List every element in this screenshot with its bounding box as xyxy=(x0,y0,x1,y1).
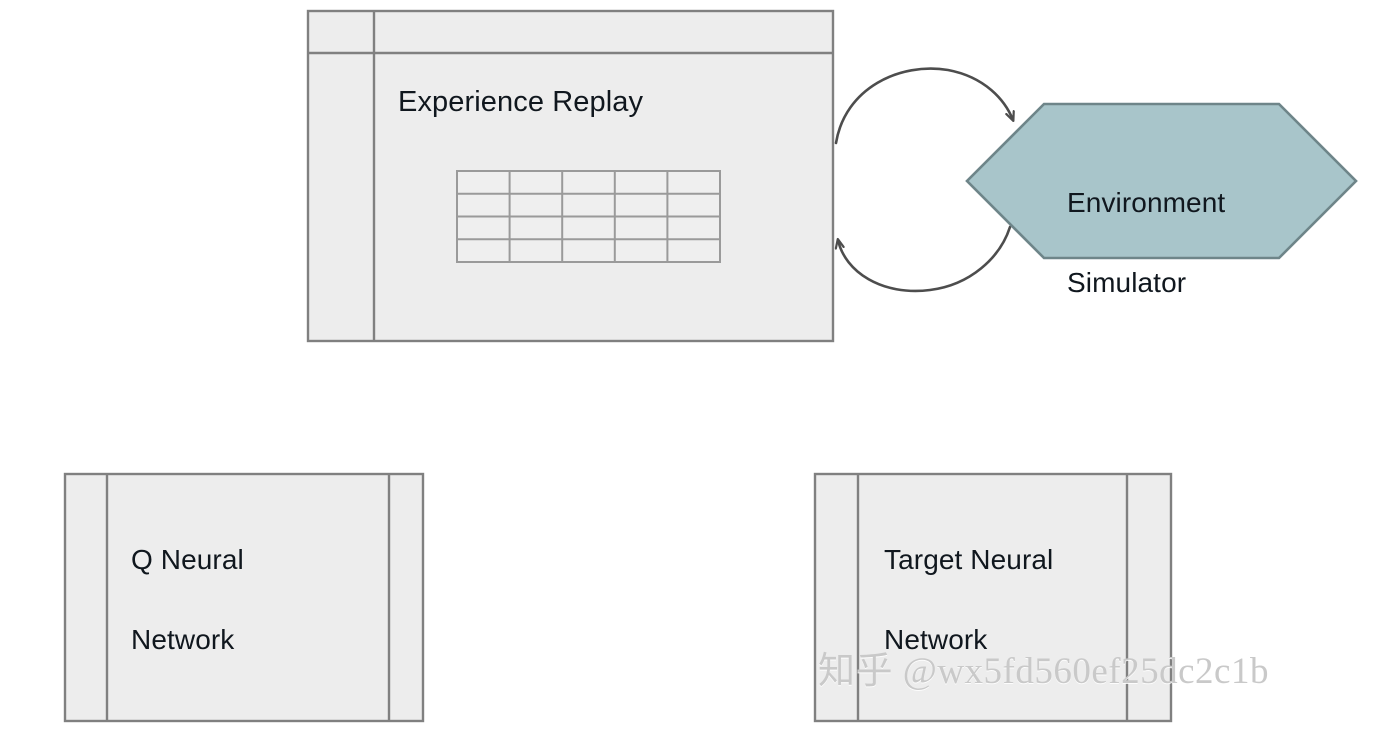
q-neural-network-label-line1: Q Neural xyxy=(131,544,244,575)
memory-table xyxy=(457,171,720,262)
watermark-text: 知乎 @wx5fd560ef25dc2c1b xyxy=(818,650,1269,694)
q-network-body xyxy=(65,474,423,721)
environment-simulator-label-line2: Simulator xyxy=(1067,267,1186,298)
q-neural-network-label-line2: Network xyxy=(131,624,234,655)
node-q-neural-network[interactable] xyxy=(65,474,423,721)
edge-replay-to-simulator[interactable] xyxy=(836,69,1013,143)
diagram-canvas: Experience Replay Environment Simulator … xyxy=(0,0,1389,733)
experience-replay-label: Experience Replay xyxy=(398,82,643,122)
environment-simulator-label: Environment Simulator xyxy=(1067,143,1225,303)
environment-simulator-label-line1: Environment xyxy=(1067,187,1225,218)
q-neural-network-label: Q Neural Network xyxy=(131,500,244,660)
target-neural-network-label: Target Neural Network xyxy=(884,500,1053,660)
target-neural-network-label-line1: Target Neural xyxy=(884,544,1053,575)
edge-simulator-to-replay[interactable] xyxy=(838,227,1010,291)
